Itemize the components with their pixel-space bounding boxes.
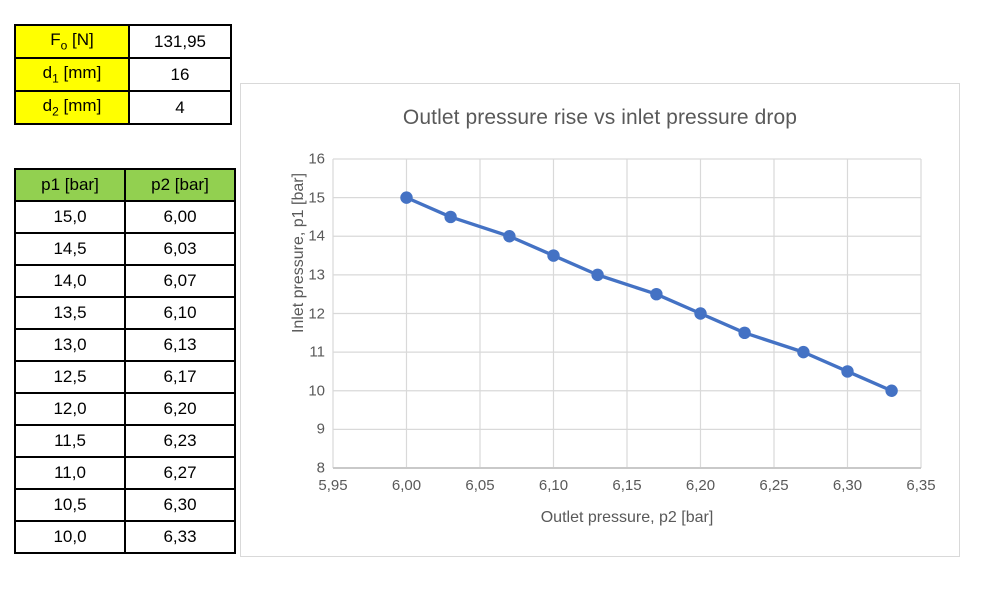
- cell-p1: 10,5: [15, 489, 125, 521]
- x-axis-tick-label: 6,15: [612, 477, 641, 494]
- data-point-marker: [400, 191, 412, 203]
- x-axis-tick-label: 6,25: [759, 477, 788, 494]
- cell-p2: 6,30: [125, 489, 235, 521]
- table-row: 11,56,23: [15, 425, 235, 457]
- x-axis-tick-label: 6,30: [833, 477, 862, 494]
- chart-title: Outlet pressure rise vs inlet pressure d…: [241, 106, 959, 130]
- series-line: [407, 198, 892, 391]
- cell-p2: 6,17: [125, 361, 235, 393]
- y-axis-title: Inlet pressure, p1 [bar]: [290, 103, 308, 403]
- data-point-marker: [797, 346, 809, 358]
- table-row: 12,56,17: [15, 361, 235, 393]
- data-table-body: 15,06,0014,56,0314,06,0713,56,1013,06,13…: [15, 201, 235, 553]
- table-row: d2 [mm] 4: [15, 91, 231, 124]
- cell-p1: 15,0: [15, 201, 125, 233]
- cell-p1: 10,0: [15, 521, 125, 553]
- parameter-table: Fo [N] 131,95 d1 [mm] 16 d2 [mm] 4: [14, 24, 232, 125]
- table-row: 15,06,00: [15, 201, 235, 233]
- cell-p2: 6,07: [125, 265, 235, 297]
- table-row: Fo [N] 131,95: [15, 25, 231, 58]
- cell-p1: 11,5: [15, 425, 125, 457]
- parameter-symbol: F: [50, 30, 60, 49]
- column-header-p2: p2 [bar]: [125, 169, 235, 201]
- cell-p1: 12,0: [15, 393, 125, 425]
- parameter-value-cell: 16: [129, 58, 231, 91]
- x-axis-title: Outlet pressure, p2 [bar]: [333, 509, 921, 527]
- table-row: 12,06,20: [15, 393, 235, 425]
- parameter-unit: [N]: [67, 30, 93, 49]
- parameter-value-cell: 4: [129, 91, 231, 124]
- y-axis-tick-label: 8: [317, 460, 325, 477]
- parameter-subscript: 1: [52, 72, 59, 86]
- data-point-marker: [650, 288, 662, 300]
- cell-p1: 14,0: [15, 265, 125, 297]
- x-axis-tick-label: 6,05: [465, 477, 494, 494]
- cell-p2: 6,27: [125, 457, 235, 489]
- parameter-unit: [mm]: [59, 96, 102, 115]
- cell-p2: 6,23: [125, 425, 235, 457]
- cell-p2: 6,13: [125, 329, 235, 361]
- x-axis-tick-label: 6,35: [906, 477, 935, 494]
- table-row: 11,06,27: [15, 457, 235, 489]
- table-header-row: p1 [bar] p2 [bar]: [15, 169, 235, 201]
- x-axis-tick-label: 5,95: [318, 477, 347, 494]
- table-row: d1 [mm] 16: [15, 58, 231, 91]
- table-row: 10,06,33: [15, 521, 235, 553]
- table-row: 14,56,03: [15, 233, 235, 265]
- column-header-p1: p1 [bar]: [15, 169, 125, 201]
- data-table-head: p1 [bar] p2 [bar]: [15, 169, 235, 201]
- parameter-label-cell: d1 [mm]: [15, 58, 129, 91]
- cell-p1: 13,0: [15, 329, 125, 361]
- parameter-table-body: Fo [N] 131,95 d1 [mm] 16 d2 [mm] 4: [15, 25, 231, 124]
- plot-area: 89101112131415165,956,006,056,106,156,20…: [333, 159, 921, 468]
- data-point-marker: [885, 385, 897, 397]
- cell-p2: 6,03: [125, 233, 235, 265]
- cell-p2: 6,00: [125, 201, 235, 233]
- x-axis-tick-label: 6,20: [686, 477, 715, 494]
- data-point-marker: [547, 249, 559, 261]
- table-row: 13,56,10: [15, 297, 235, 329]
- parameter-label-cell: d2 [mm]: [15, 91, 129, 124]
- chart-container: Outlet pressure rise vs inlet pressure d…: [240, 83, 960, 557]
- y-axis-tick-label: 15: [308, 189, 325, 206]
- data-point-marker: [444, 211, 456, 223]
- y-axis-tick-label: 14: [308, 228, 325, 245]
- cell-p1: 12,5: [15, 361, 125, 393]
- pressure-data-table: p1 [bar] p2 [bar] 15,06,0014,56,0314,06,…: [14, 168, 236, 554]
- cell-p1: 11,0: [15, 457, 125, 489]
- x-axis-tick-label: 6,10: [539, 477, 568, 494]
- parameter-value-cell: 131,95: [129, 25, 231, 58]
- cell-p1: 13,5: [15, 297, 125, 329]
- cell-p1: 14,5: [15, 233, 125, 265]
- y-axis-tick-label: 13: [308, 266, 325, 283]
- table-row: 14,06,07: [15, 265, 235, 297]
- plot-svg: [333, 159, 921, 468]
- table-row: 13,06,13: [15, 329, 235, 361]
- parameter-subscript: 2: [52, 105, 59, 119]
- y-axis-tick-label: 11: [309, 344, 325, 361]
- y-axis-tick-label: 12: [308, 305, 325, 322]
- data-point-marker: [738, 327, 750, 339]
- parameter-unit: [mm]: [59, 63, 102, 82]
- y-axis-tick-label: 10: [308, 382, 325, 399]
- data-point-marker: [591, 269, 603, 281]
- y-axis-tick-label: 9: [317, 421, 325, 438]
- parameter-symbol: d: [43, 63, 52, 82]
- cell-p2: 6,10: [125, 297, 235, 329]
- data-point-marker: [503, 230, 515, 242]
- y-axis-tick-label: 16: [308, 151, 325, 168]
- cell-p2: 6,33: [125, 521, 235, 553]
- parameter-symbol: d: [43, 96, 52, 115]
- parameter-label-cell: Fo [N]: [15, 25, 129, 58]
- table-row: 10,56,30: [15, 489, 235, 521]
- x-axis-tick-label: 6,00: [392, 477, 421, 494]
- data-point-marker: [694, 307, 706, 319]
- cell-p2: 6,20: [125, 393, 235, 425]
- data-point-marker: [841, 365, 853, 377]
